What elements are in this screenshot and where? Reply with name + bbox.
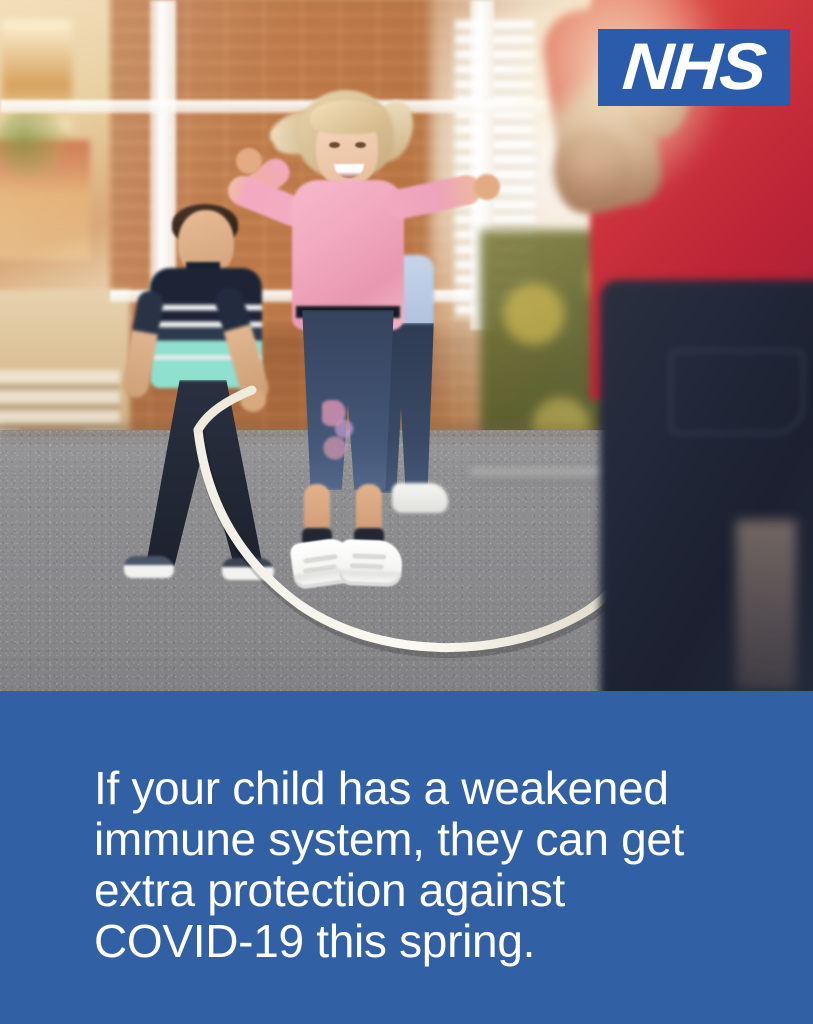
headline-line: immune system, they can get [94,814,754,865]
headline-line: COVID-19 this spring. [94,916,754,967]
foreground-leg-highlight [736,520,796,690]
headline-text: If your child has a weakened immune syst… [94,763,754,967]
message-panel: If your child has a weakened immune syst… [0,691,813,1024]
nhs-logo: NHS [598,29,790,106]
nhs-poster: NHS If your child has a weakened immune … [0,0,813,1024]
hero-photo: NHS [0,0,813,691]
nhs-logo-text: NHS [621,33,767,99]
headline-line: extra protection against [94,865,754,916]
foreground-jeans-pocket [670,350,804,434]
headline-line: If your child has a weakened [94,763,754,814]
